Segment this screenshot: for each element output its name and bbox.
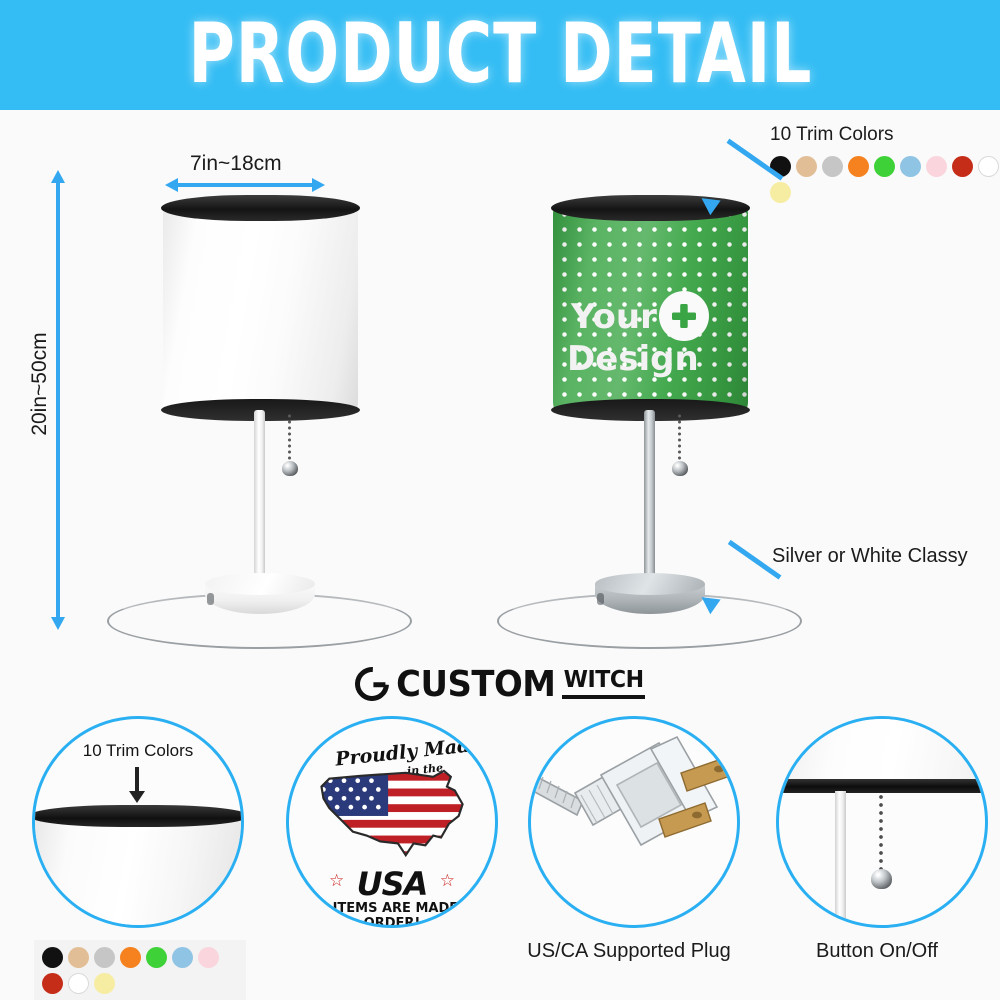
base-switch-notch (597, 593, 604, 605)
feature-circle: 10 Trim Colors (32, 716, 244, 928)
height-dimension-arrow (55, 170, 61, 630)
pull-chain-closeup[interactable] (879, 793, 883, 873)
swatch-light-blue[interactable] (172, 947, 193, 968)
swatch-tan[interactable] (796, 156, 817, 177)
swatch-black[interactable] (42, 947, 63, 968)
arrow-head (696, 191, 720, 215)
arrow-shaft (174, 183, 316, 187)
brand-logo: CUSTOM WITCH (0, 660, 1000, 708)
lamp-pole (644, 410, 655, 585)
feature-power-plug: US/CA Supported Plug (504, 712, 754, 1000)
pull-chain-ball[interactable] (282, 461, 298, 476)
swatch-orange[interactable] (848, 156, 869, 177)
shade-surface (163, 204, 358, 412)
swatch-white[interactable] (978, 156, 999, 177)
swatch-green[interactable] (146, 947, 167, 968)
arrow-head (696, 590, 720, 614)
shade-trim-top (161, 195, 360, 221)
lamp-shade-white (163, 195, 358, 420)
logo-c-mark-icon (348, 660, 396, 708)
design-line-2: Design (567, 339, 699, 379)
swatch-gray[interactable] (94, 947, 115, 968)
lamp-shade-green: Your Design (553, 195, 748, 420)
logo-text-custom: CUSTOM (396, 664, 555, 705)
trim-colors-title: 10 Trim Colors (770, 124, 1000, 146)
feature-circle (528, 716, 740, 928)
logo-underline (562, 695, 645, 699)
plus-icon-bar-v (680, 304, 688, 328)
swatch-orange[interactable] (120, 947, 141, 968)
down-arrow-shaft (135, 767, 139, 793)
feature-button-on-off: Button On/Off (752, 712, 1000, 1000)
plug-caption: US/CA Supported Plug (504, 940, 754, 963)
swatch-pink[interactable] (926, 156, 947, 177)
pull-chain[interactable] (288, 413, 291, 465)
product-detail-infographic: PRODUCT DETAIL 7in~18cm 20in~50cm (0, 0, 1000, 1000)
trim-color-swatch-strip (34, 940, 246, 1000)
arrow-bottom-head (51, 617, 65, 630)
pull-chain-ball-closeup[interactable] (871, 869, 892, 889)
trim-colors-pointer-arrow (700, 168, 780, 214)
pull-chain[interactable] (678, 413, 681, 465)
swatch-red[interactable] (952, 156, 973, 177)
logo-witch-block: WITCH (562, 669, 645, 699)
base-top (595, 573, 705, 595)
base-finish-label: Silver or White Classy (772, 545, 968, 568)
width-dimension-label: 7in~18cm (190, 152, 282, 176)
feature-panels: 10 Trim Colors (0, 712, 1000, 1000)
arrow-right-head (312, 178, 325, 192)
us-plug-icon (531, 719, 737, 925)
down-arrow-head-icon (129, 791, 145, 803)
base-top (205, 573, 315, 595)
lamp-base-silver (595, 573, 705, 618)
swatch-red[interactable] (42, 973, 63, 994)
shade-trim-closeup (32, 805, 244, 827)
shade-surface: Your Design (553, 204, 748, 412)
usa-map-flag-icon (315, 765, 473, 863)
trim-colors-callout: 10 Trim Colors (770, 124, 1000, 203)
height-dimension-label: 20in~50cm (28, 309, 52, 459)
swatch-yellow[interactable] (94, 973, 115, 994)
lamp-base-white (205, 573, 315, 618)
base-switch-notch (207, 593, 214, 605)
feature-circle: Proudly Made in the (286, 716, 498, 928)
page-title: PRODUCT DETAIL (188, 14, 812, 97)
shade-trim-closeup (776, 779, 988, 793)
base-finish-pointer-arrow (700, 565, 780, 615)
your-design-artwork: Your Design (553, 204, 748, 412)
usa-word-text: USA (289, 865, 495, 903)
logo-text-witch: WITCH (563, 669, 643, 692)
usa-badge: Proudly Made in the (289, 719, 495, 925)
trim-colors-inner-label: 10 Trim Colors (35, 741, 241, 761)
star-right-icon: ☆ (440, 871, 455, 891)
design-line-1: Your (570, 297, 657, 337)
swatch-pink[interactable] (198, 947, 219, 968)
usa-subtitle-text: ALL ITEMS ARE MADE TO ORDER! (289, 901, 495, 928)
button-caption: Button On/Off (752, 940, 1000, 963)
pull-chain-ball[interactable] (672, 461, 688, 476)
header-banner: PRODUCT DETAIL (0, 0, 1000, 110)
shade-bottom-closeup (776, 719, 988, 781)
trim-color-swatches (770, 156, 1000, 203)
feature-made-in-usa: Proudly Made in the (262, 712, 512, 1000)
swatch-tan[interactable] (68, 947, 89, 968)
lamp-pole (254, 410, 265, 585)
feature-trim-colors: 10 Trim Colors (8, 712, 258, 1000)
swatch-white[interactable] (68, 973, 89, 994)
swatch-green[interactable] (874, 156, 895, 177)
lamp-showcase-stage: 7in~18cm 20in~50cm (0, 110, 1000, 655)
trim-color-swatches (42, 947, 240, 994)
feature-circle (776, 716, 988, 928)
arrow-shaft (56, 180, 60, 622)
lamp-white-blank (120, 195, 400, 650)
width-dimension-arrow (165, 182, 325, 188)
swatch-light-blue[interactable] (900, 156, 921, 177)
lamp-pole-closeup (835, 791, 846, 928)
swatch-gray[interactable] (822, 156, 843, 177)
shade-body-closeup (32, 819, 244, 928)
